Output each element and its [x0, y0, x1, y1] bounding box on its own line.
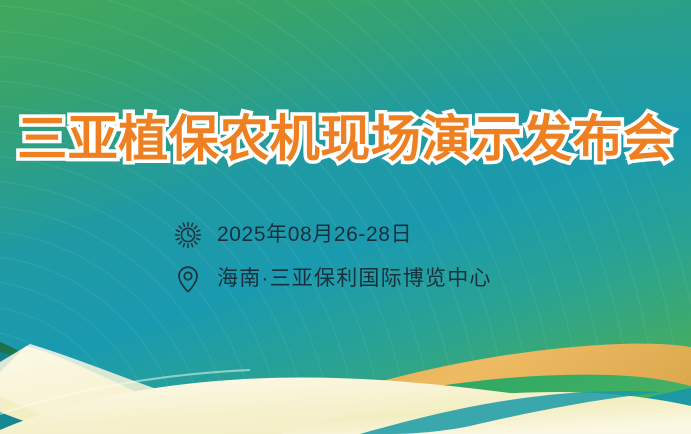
- background-vertical-tint: [0, 0, 691, 434]
- banner-date-row: 2025年08月26-28日: [173, 218, 518, 252]
- banner-title: 三亚植保农机现场演示发布会: [17, 109, 674, 169]
- banner-title-wrap: 三亚植保农机现场演示发布会: [0, 104, 691, 174]
- banner-info-block: 2025年08月26-28日 海南·三亚保利国际博览中心: [0, 218, 691, 296]
- event-banner: 三亚植保农机现场演示发布会: [0, 0, 691, 434]
- banner-date-text: 2025年08月26-28日: [217, 220, 412, 250]
- clock-icon: [173, 220, 203, 250]
- banner-location-row: 海南·三亚保利国际博览中心: [173, 262, 518, 296]
- banner-location-text: 海南·三亚保利国际博览中心: [217, 264, 492, 294]
- map-pin-icon: [173, 264, 203, 294]
